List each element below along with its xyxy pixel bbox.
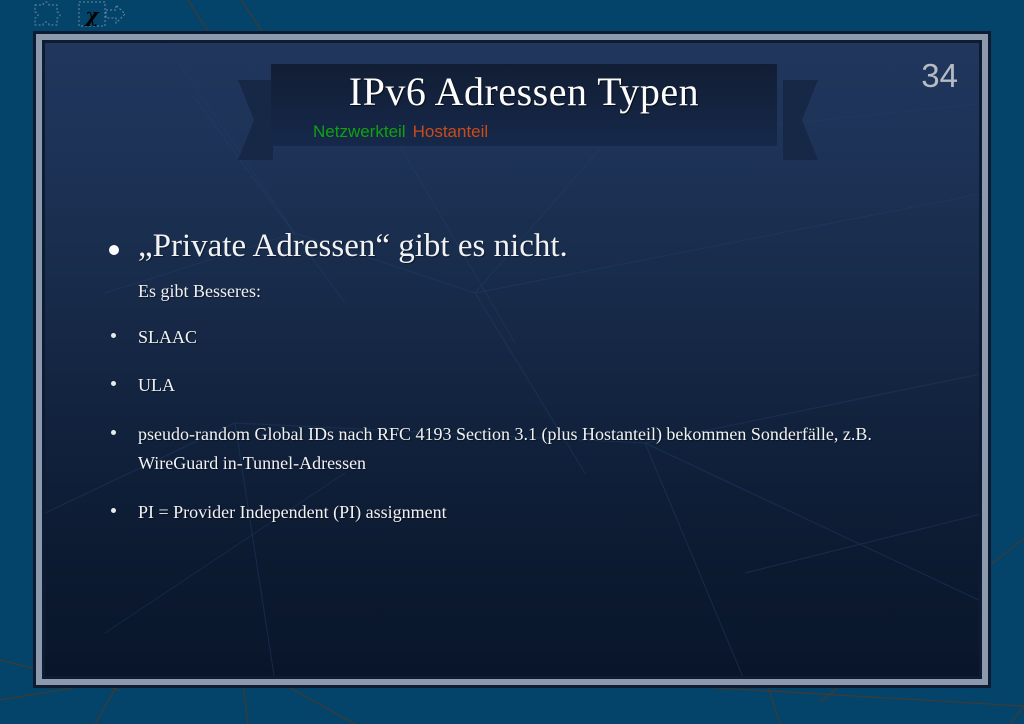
slide-title: IPv6 Adressen Typen [271, 68, 777, 115]
subtitle-hostanteil: Hostanteil [413, 122, 489, 141]
bullet-marker-small [111, 508, 116, 513]
slide-subtitle: NetzwerkteilHostanteil [313, 122, 488, 142]
missing-image-chi-icon: χ [78, 0, 130, 34]
bullet-item-primary: „Private Adressen“ gibt es nicht. [73, 228, 949, 265]
bullet-item-slaac: SLAAC [73, 323, 949, 352]
bullet-text: ULA [138, 375, 175, 395]
subtext-es-gibt-besseres: Es gibt Besseres: [73, 281, 949, 303]
subtitle-netzwerkteil: Netzwerkteil [313, 122, 406, 141]
bullet-marker-large [109, 245, 119, 255]
bullet-item-pseudo-random-global-ids: pseudo-random Global IDs nach RFC 4193 S… [73, 420, 949, 478]
bullet-text: SLAAC [138, 327, 197, 347]
slide-canvas: 34 IPv6 Adressen Typen NetzwerkteilHosta… [45, 43, 979, 676]
bullet-marker-small [111, 381, 116, 386]
ribbon-band: IPv6 Adressen Typen NetzwerkteilHostante… [271, 64, 777, 146]
puzzle-piece-placeholder-icon [28, 0, 68, 34]
bullet-item-ula: ULA [73, 371, 949, 400]
bullet-text: PI = Provider Independent (PI) assignmen… [138, 502, 447, 522]
bullet-marker-small [111, 430, 116, 435]
slide-border-bevel: 34 IPv6 Adressen Typen NetzwerkteilHosta… [36, 34, 988, 685]
slide-inner-edge: 34 IPv6 Adressen Typen NetzwerkteilHosta… [42, 40, 982, 679]
bullet-text: „Private Adressen“ gibt es nicht. [138, 228, 568, 264]
bullet-text: pseudo-random Global IDs nach RFC 4193 S… [138, 424, 872, 473]
slide-frame: 34 IPv6 Adressen Typen NetzwerkteilHosta… [33, 31, 991, 688]
slide-number: 34 [921, 59, 958, 92]
broken-image-placeholders: χ [28, 0, 130, 32]
bullet-item-pi-assignment: PI = Provider Independent (PI) assignmen… [73, 498, 949, 527]
ribbon-tail-right [783, 80, 818, 160]
ribbon-tail-left [238, 80, 273, 160]
subtext-label: Es gibt Besseres: [138, 281, 261, 301]
title-ribbon: IPv6 Adressen Typen NetzwerkteilHostante… [45, 64, 979, 174]
bullet-marker-small [111, 333, 116, 338]
slide-body: „Private Adressen“ gibt es nicht. Es gib… [73, 228, 949, 547]
svg-text:χ: χ [83, 3, 100, 27]
